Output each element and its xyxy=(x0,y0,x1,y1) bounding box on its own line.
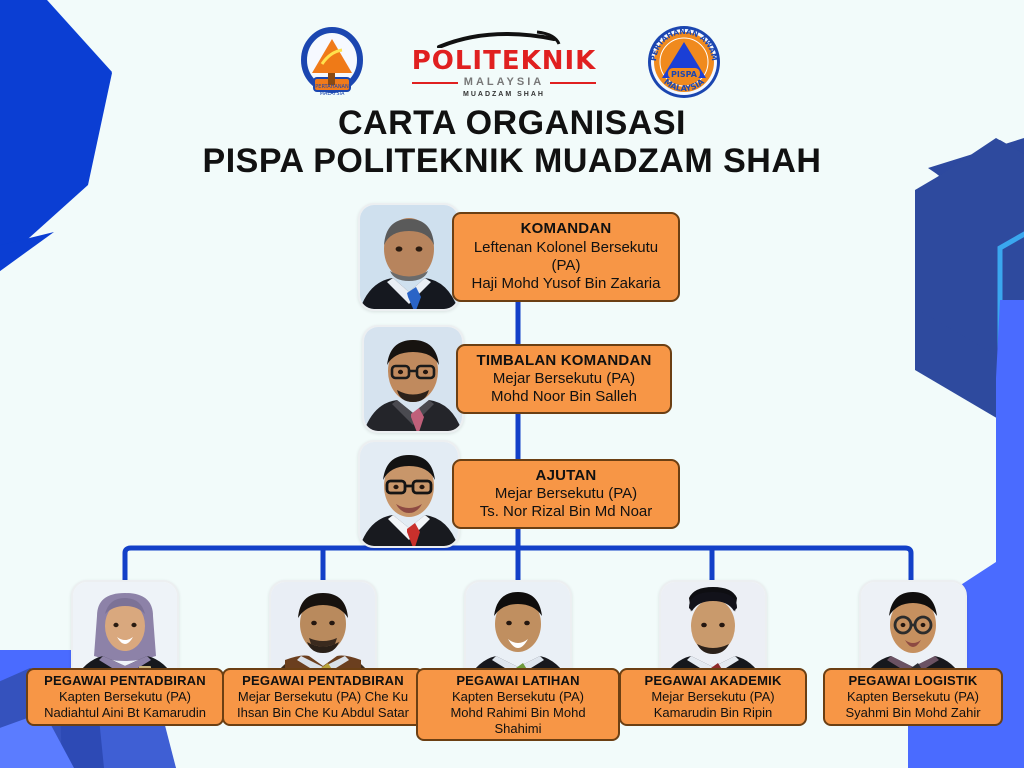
ajutan-name: Ts. Nor Rizal Bin Md Noar xyxy=(468,503,664,521)
page-title: CARTA ORGANISASI PISPA POLITEKNIK MUADZA… xyxy=(0,104,1024,180)
node-officer-5[interactable]: PEGAWAI LOGISTIK Kapten Bersekutu (PA) S… xyxy=(820,580,1006,726)
politeknik-wordmark: POLITEKNIK xyxy=(412,48,597,74)
officer-4-rank: Mejar Bersekutu (PA) xyxy=(629,689,797,705)
label-komandan: KOMANDAN Leftenan Kolonel Bersekutu (PA)… xyxy=(452,212,680,301)
avatar-komandan xyxy=(358,203,460,311)
officer-4-name: Kamarudin Bin Ripin xyxy=(629,705,797,721)
officer-5-role: PEGAWAI LOGISTIK xyxy=(833,673,993,689)
node-komandan[interactable]: KOMANDAN Leftenan Kolonel Bersekutu (PA)… xyxy=(358,203,680,311)
title-line-1: CARTA ORGANISASI xyxy=(0,104,1024,142)
title-line-2: PISPA POLITEKNIK MUADZAM SHAH xyxy=(0,142,1024,180)
label-officer-2: PEGAWAI PENTADBIRAN Mejar Bersekutu (PA)… xyxy=(222,668,424,726)
politeknik-sub-malaysia: MALAYSIA xyxy=(464,74,544,91)
politeknik-sub-campus: MUADZAM SHAH xyxy=(463,91,545,98)
avatar-timbalan-komandan xyxy=(362,325,464,433)
timbalan-komandan-name: Mohd Noor Bin Salleh xyxy=(472,388,656,406)
node-officer-3[interactable]: PEGAWAI LATIHAN Kapten Bersekutu (PA) Mo… xyxy=(415,580,621,741)
timbalan-komandan-role: TIMBALAN KOMANDAN xyxy=(472,352,656,370)
node-timbalan-komandan[interactable]: TIMBALAN KOMANDAN Mejar Bersekutu (PA) M… xyxy=(362,325,672,433)
komandan-rank: Leftenan Kolonel Bersekutu (PA) xyxy=(468,239,664,276)
officer-3-rank: Kapten Bersekutu (PA) xyxy=(426,689,610,705)
shape-hexagon-dark xyxy=(915,140,1024,420)
pispa-logo: PISPA PERTAHANAN AWAM MALAYSIA xyxy=(644,24,724,105)
label-officer-1: PEGAWAI PENTADBIRAN Kapten Bersekutu (PA… xyxy=(26,668,224,726)
label-officer-4: PEGAWAI AKADEMIK Mejar Bersekutu (PA) Ka… xyxy=(619,668,807,726)
svg-text:MALAYSIA: MALAYSIA xyxy=(319,91,344,97)
label-ajutan: AJUTAN Mejar Bersekutu (PA) Ts. Nor Riza… xyxy=(452,459,680,530)
label-officer-3: PEGAWAI LATIHAN Kapten Bersekutu (PA) Mo… xyxy=(416,668,620,741)
komandan-role: KOMANDAN xyxy=(468,220,664,238)
officer-4-role: PEGAWAI AKADEMIK xyxy=(629,673,797,689)
officer-5-rank: Kapten Bersekutu (PA) xyxy=(833,689,993,705)
officer-2-name: Ihsan Bin Che Ku Abdul Satar xyxy=(232,705,414,721)
officer-2-rank: Mejar Bersekutu (PA) Che Ku xyxy=(232,689,414,705)
svg-text:PISPA: PISPA xyxy=(671,70,698,79)
officer-3-name: Mohd Rahimi Bin Mohd Shahimi xyxy=(426,705,610,737)
shape-hexagon-outline xyxy=(1000,225,1024,405)
label-timbalan-komandan: TIMBALAN KOMANDAN Mejar Bersekutu (PA) M… xyxy=(456,344,672,415)
ajutan-role: AJUTAN xyxy=(468,467,664,485)
politeknik-malaysia-logo: POLITEKNIK MALAYSIA MUADZAM SHAH xyxy=(412,30,597,98)
logo-row: PERTAHANAN MALAYSIA POLITEKNIK MALAYSIA … xyxy=(0,24,1024,104)
officer-1-rank: Kapten Bersekutu (PA) xyxy=(36,689,214,705)
ajutan-rank: Mejar Bersekutu (PA) xyxy=(468,485,664,503)
node-officer-2[interactable]: PEGAWAI PENTADBIRAN Mejar Bersekutu (PA)… xyxy=(220,580,426,726)
timbalan-komandan-rank: Mejar Bersekutu (PA) xyxy=(472,370,656,388)
officer-1-role: PEGAWAI PENTADBIRAN xyxy=(36,673,214,689)
shape-left-mid-blue xyxy=(0,232,54,300)
officer-3-role: PEGAWAI LATIHAN xyxy=(426,673,610,689)
komandan-name: Haji Mohd Yusof Bin Zakaria xyxy=(468,275,664,293)
node-officer-4[interactable]: PEGAWAI AKADEMIK Mejar Bersekutu (PA) Ka… xyxy=(615,580,811,726)
connector-horizontal-bus xyxy=(125,548,911,575)
officer-5-name: Syahmi Bin Mohd Zahir xyxy=(833,705,993,721)
jabatan-pertahanan-awam-logo: PERTAHANAN MALAYSIA xyxy=(300,26,364,103)
avatar-ajutan xyxy=(358,440,460,548)
node-ajutan[interactable]: AJUTAN Mejar Bersekutu (PA) Ts. Nor Riza… xyxy=(358,440,680,548)
label-officer-5: PEGAWAI LOGISTIK Kapten Bersekutu (PA) S… xyxy=(823,668,1003,726)
organisation-chart-poster: PERTAHANAN MALAYSIA POLITEKNIK MALAYSIA … xyxy=(0,0,1024,768)
node-officer-1[interactable]: PEGAWAI PENTADBIRAN Kapten Bersekutu (PA… xyxy=(22,580,228,726)
svg-text:PERTAHANAN: PERTAHANAN xyxy=(315,84,349,90)
officer-2-role: PEGAWAI PENTADBIRAN xyxy=(232,673,414,689)
officer-1-name: Nadiahtul Aini Bt Kamarudin xyxy=(36,705,214,721)
